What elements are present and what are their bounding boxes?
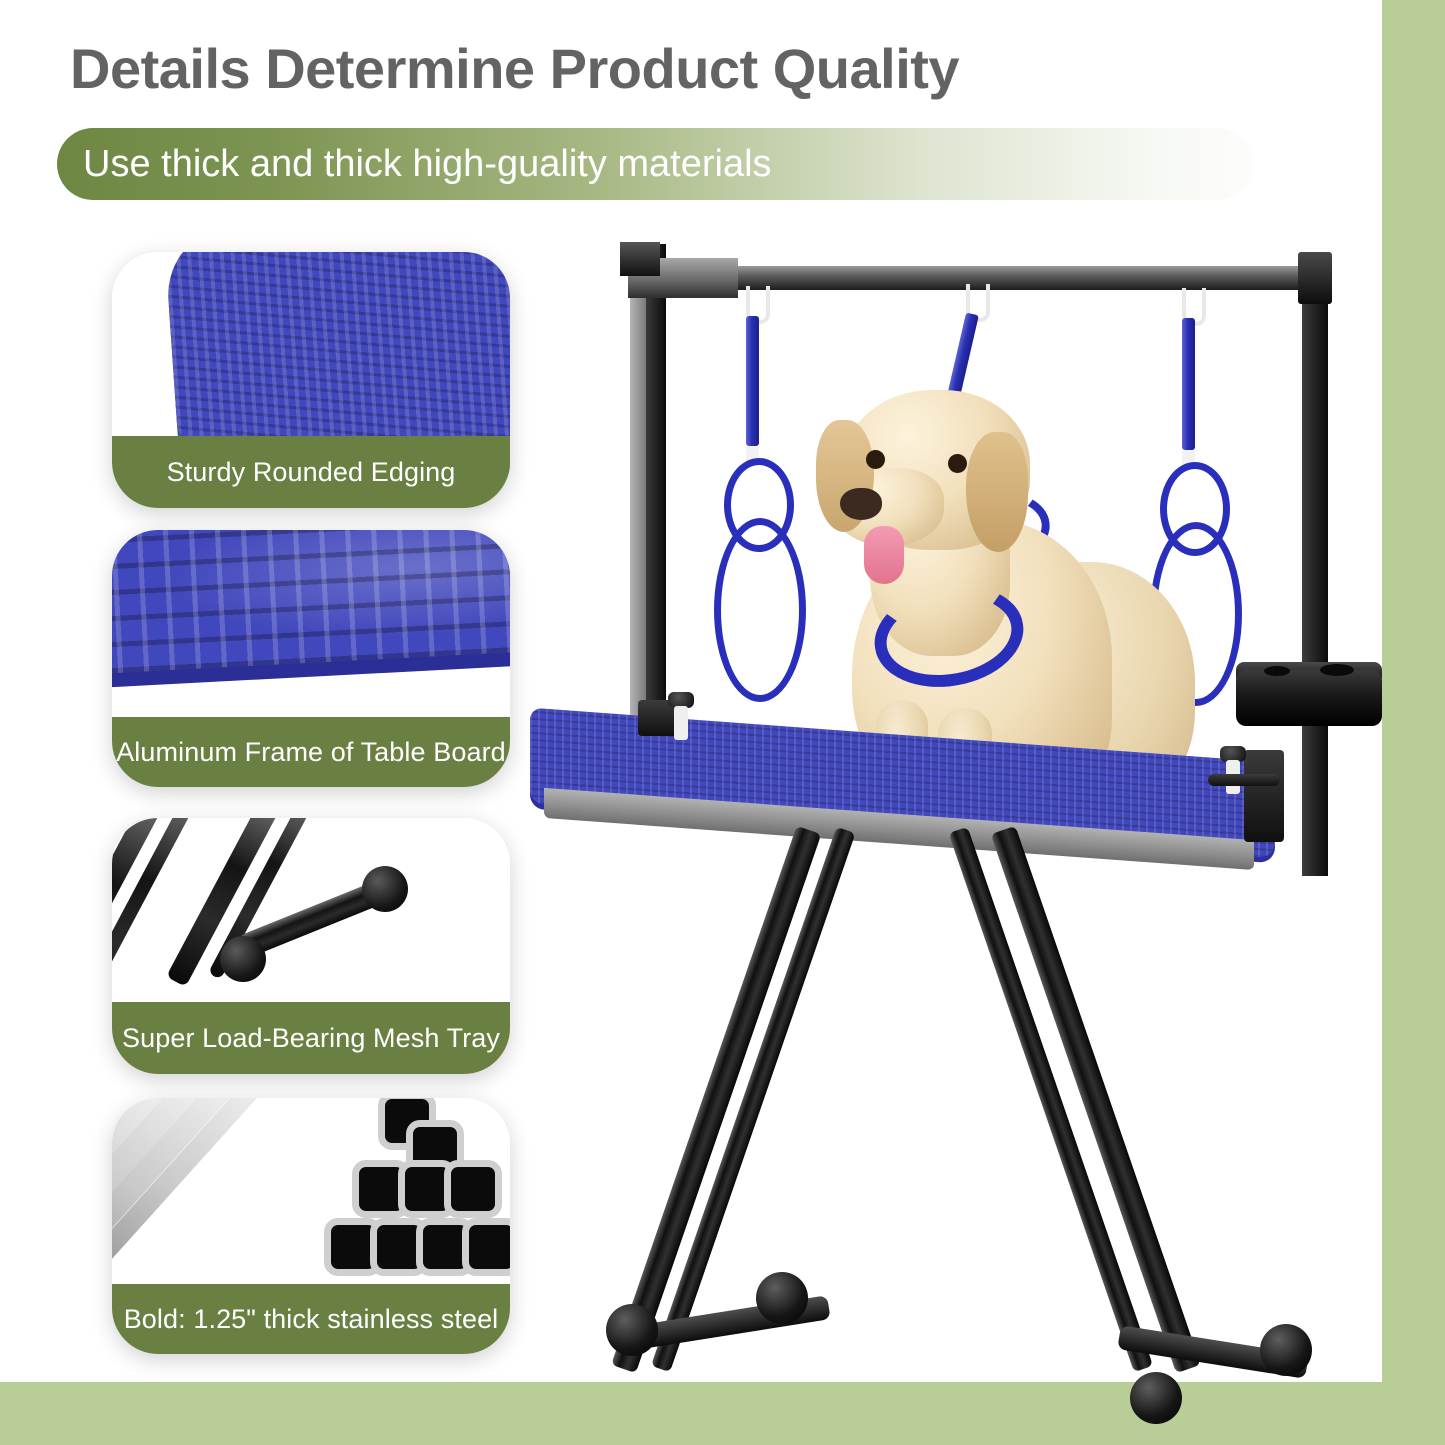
x-leg-front-right: [991, 826, 1201, 1373]
grooming-arm-left-post: [646, 244, 666, 754]
feature-card-label: Aluminum Frame of Table Board: [112, 717, 510, 787]
infographic-root: Details Determine Product Quality Use th…: [0, 0, 1445, 1445]
grooming-arm-right-cap: [1298, 252, 1332, 304]
page-subtitle: Use thick and thick high-guality materia…: [83, 143, 772, 186]
black-tool-tray[interactable]: [1236, 670, 1382, 726]
leg-foot-front-left: [606, 1304, 658, 1356]
right-arm-clamp[interactable]: [1244, 750, 1284, 842]
leg-foot-rear-right: [1130, 1372, 1182, 1424]
feature-card-sturdy-rounded-edging[interactable]: Sturdy Rounded Edging: [112, 252, 510, 508]
leg-foot-front-right: [1260, 1324, 1312, 1376]
feature-card-label: Sturdy Rounded Edging: [112, 436, 510, 508]
leg-foot-rear-left: [756, 1272, 808, 1324]
feature-card-aluminum-frame[interactable]: Aluminum Frame of Table Board: [112, 530, 510, 787]
left-clamp-screw[interactable]: [674, 706, 688, 740]
tool-tray-hole: [1320, 664, 1354, 676]
grooming-arm-right-post: [1302, 256, 1328, 876]
x-leg-front-right-inner: [949, 827, 1153, 1372]
grooming-arm-left-cap: [620, 242, 660, 276]
feature-card-label: Bold: 1.25" thick stainless steel: [112, 1284, 510, 1354]
feature-card-stainless-steel[interactable]: Bold: 1.25" thick stainless steel: [112, 1098, 510, 1354]
page-title: Details Determine Product Quality: [70, 36, 959, 101]
feature-card-mesh-tray[interactable]: Super Load-Bearing Mesh Tray: [112, 818, 510, 1074]
x-leg-front-left-inner: [651, 827, 855, 1372]
pet-grooming-table-image: [520, 230, 1400, 1390]
feature-card-label: Super Load-Bearing Mesh Tray: [112, 1002, 510, 1074]
right-clamp-arm: [1208, 774, 1280, 786]
tool-tray-hole: [1264, 666, 1290, 676]
